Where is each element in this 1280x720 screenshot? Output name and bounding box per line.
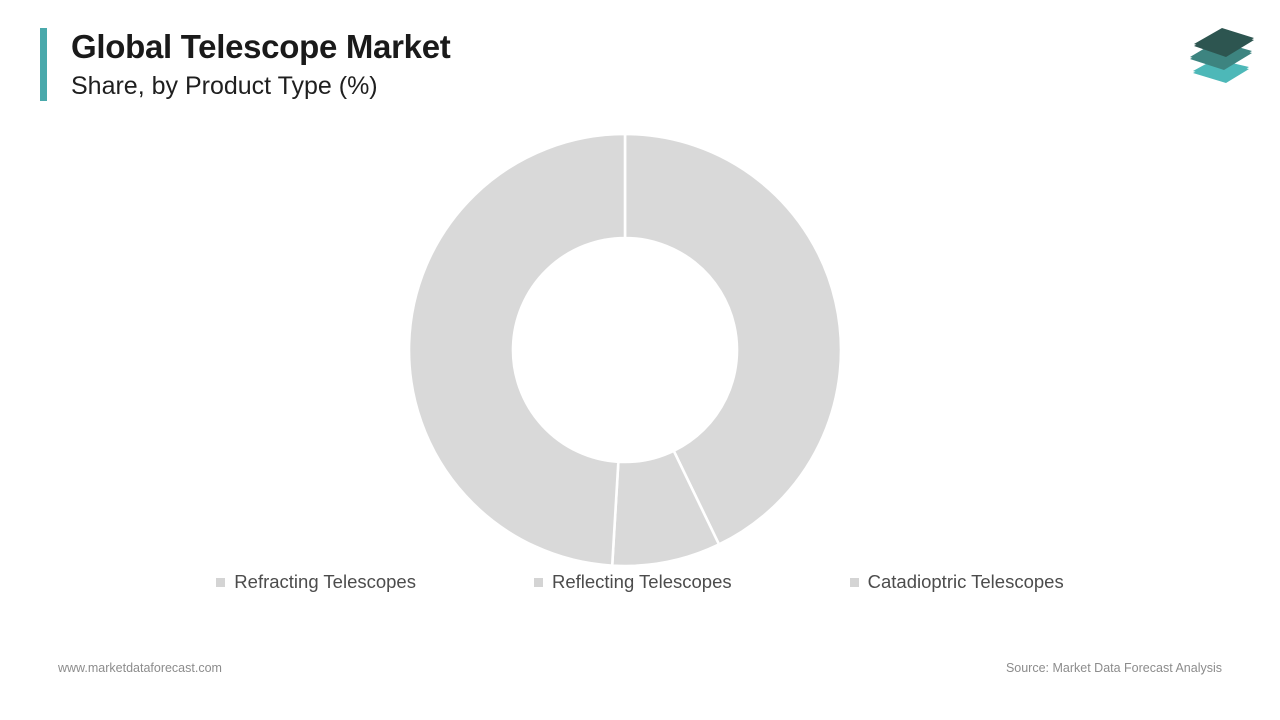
legend-item-label: Refracting Telescopes: [234, 571, 416, 593]
legend-item-label: Catadioptric Telescopes: [868, 571, 1064, 593]
stacked-layers-icon: [1184, 24, 1258, 92]
legend-item-reflecting[interactable]: Reflecting Telescopes: [534, 571, 732, 593]
page-subtitle: Share, by Product Type (%): [71, 71, 450, 101]
page-footer: www.marketdataforecast.com Source: Marke…: [58, 661, 1222, 675]
footer-website-url[interactable]: www.marketdataforecast.com: [58, 661, 222, 675]
legend-item-catadioptric[interactable]: Catadioptric Telescopes: [850, 571, 1064, 593]
donut-slice[interactable]: [625, 134, 841, 544]
donut-slice[interactable]: [409, 134, 625, 566]
legend-swatch-icon: [216, 578, 225, 587]
donut-chart-svg: [0, 0, 1280, 720]
chart-legend: Refracting Telescopes Reflecting Telesco…: [0, 571, 1280, 593]
legend-item-label: Reflecting Telescopes: [552, 571, 732, 593]
chart-header: Global Telescope Market Share, by Produc…: [40, 28, 450, 101]
header-text-block: Global Telescope Market Share, by Produc…: [47, 28, 450, 101]
brand-logo: [1184, 24, 1258, 92]
donut-slice-group: [409, 134, 841, 566]
footer-source-label: Source: Market Data Forecast Analysis: [1006, 661, 1222, 675]
legend-swatch-icon: [534, 578, 543, 587]
page-title: Global Telescope Market: [71, 28, 450, 66]
donut-slice[interactable]: [612, 451, 719, 566]
legend-swatch-icon: [850, 578, 859, 587]
accent-bar: [40, 28, 47, 101]
donut-chart: [0, 0, 1280, 720]
legend-item-refracting[interactable]: Refracting Telescopes: [216, 571, 416, 593]
chart-page: Global Telescope Market Share, by Produc…: [0, 0, 1280, 720]
